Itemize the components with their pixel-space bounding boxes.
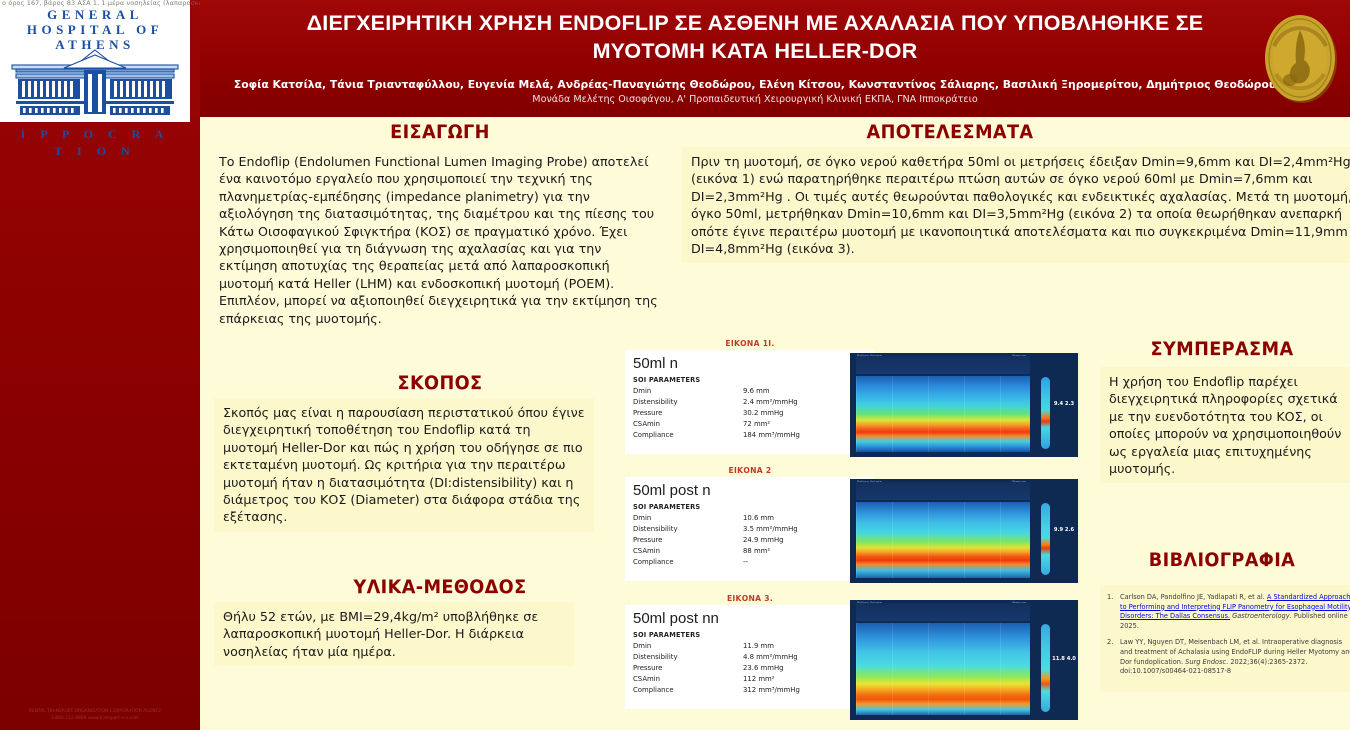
reference-number: 2. (1107, 638, 1113, 648)
flip-panometry-heatmap-2: Balloon Volume Pressure 9.9 2.6 (850, 479, 1078, 583)
reference-journal: Surg Endosc (1185, 658, 1226, 666)
figure-panel-2: 50ml post n SOI PARAMETERS Dmin10.6 mm D… (625, 477, 875, 581)
heatmap-balloon-profile (1041, 624, 1050, 712)
left-sidebar-rail: GENERAL HOSPITAL OF ATHENS (0, 0, 200, 730)
param-value: 23.6 mmHg (743, 663, 858, 674)
param-value: 112 mm² (743, 673, 858, 684)
author-list: Σοφία Κατσίλα, Τάνια Τριανταφύλλου, Ευγε… (230, 78, 1280, 92)
table-row: Pressure23.6 mmHg (633, 663, 858, 674)
figure-volume-title: 50ml post nn (633, 610, 719, 627)
section-body-introduction: Το Endoflip (Endolumen Functional Lumen … (210, 147, 670, 333)
section-heading-bibliography: ΒΙΒΛΙΟΓΡΑΦΙΑ (1106, 549, 1339, 571)
param-key: Pressure (633, 535, 743, 546)
figure-label-2: ΕΙΚΟΝΑ 2 (625, 466, 875, 475)
param-key: Compliance (633, 429, 743, 440)
table-row: Pressure24.9 mmHg (633, 535, 858, 546)
heatmap-balloon-profile (1041, 377, 1050, 449)
figure-params-table: Dmin9.6 mm Distensibility2.4 mm²/mmHg Pr… (633, 386, 858, 440)
sidebar-footer-note: RENTAL TRANSPORT ORGANIZATION CORPORATIO… (0, 708, 190, 722)
heatmap-gridlines (856, 502, 1030, 578)
section-body-purpose: Σκοπός μας είναι η παρουσίαση περιστατικ… (214, 398, 594, 532)
figure-volume-title: 50ml post n (633, 482, 711, 499)
param-value: 2.4 mm²/mmHg (743, 397, 858, 408)
table-row: CSAmin112 mm² (633, 673, 858, 684)
hospital-name-line1: GENERAL (0, 7, 190, 22)
heatmap-readout-b: 4.0 (1067, 656, 1076, 662)
list-item: 1. Carlson DA, Pandolfino JE, Yadlapati … (1106, 593, 1350, 631)
section-heading-conclusion: ΣΥΜΠΕΡΑΣΜΑ (1106, 338, 1339, 360)
section-body-materials-methods: Θήλυ 52 ετών, με BMI=29,4kg/m² υποβλήθηκ… (214, 602, 574, 666)
figure-label-1: ΕΙΚΟΝΑ 1Ι. (625, 339, 875, 348)
param-key: Distensibility (633, 652, 743, 663)
param-value: 88 mm² (743, 545, 858, 556)
param-value: 9.6 mm (743, 386, 858, 397)
param-value: -- (743, 556, 858, 567)
heatmap-gridlines (856, 376, 1030, 452)
param-key: Pressure (633, 663, 743, 674)
param-key: CSAmin (633, 418, 743, 429)
param-value: 24.9 mmHg (743, 535, 858, 546)
table-row: Compliance-- (633, 556, 858, 567)
figure-panel-1: 50ml n SOI PARAMETERS Dmin9.6 mm Distens… (625, 350, 875, 454)
figure-params-header: SOI PARAMETERS (633, 503, 700, 511)
figure-params-header: SOI PARAMETERS (633, 631, 700, 639)
flip-panometry-heatmap-3: Balloon Volume Pressure 11.8 4.0 (850, 600, 1078, 720)
poster-body: ΕΙΣΑΓΩΓΗ Το Endoflip (Endolumen Function… (200, 117, 1350, 730)
heatmap-diameter-plot (856, 623, 1030, 715)
section-body-bibliography: 1. Carlson DA, Pandolfino JE, Yadlapati … (1100, 585, 1350, 692)
ippocration-line1: I P P O C R A (0, 126, 190, 143)
hospital-building-icon (6, 48, 184, 118)
heatmap-readout-b: 2.6 (1065, 527, 1074, 533)
table-row: Compliance312 mm³/mmHg (633, 684, 858, 695)
param-value: 4.8 mm²/mmHg (743, 652, 858, 663)
param-value: 184 mm³/mmHg (743, 429, 858, 440)
table-row: CSAmin72 mm² (633, 418, 858, 429)
figure-params-table: Dmin10.6 mm Distensibility3.5 mm²/mmHg P… (633, 513, 858, 567)
heatmap-readout-a: 9.4 (1054, 401, 1063, 407)
param-key: Distensibility (633, 524, 743, 535)
param-key: Compliance (633, 684, 743, 695)
param-value: 11.9 mm (743, 641, 858, 652)
heatmap-pressure-trace (856, 356, 1030, 374)
hospital-logo-block: GENERAL HOSPITAL OF ATHENS (0, 0, 190, 122)
table-row: Pressure30.2 mmHg (633, 408, 858, 419)
param-key: Dmin (633, 641, 743, 652)
figure-panel-3: 50ml post nn SOI PARAMETERS Dmin11.9 mm … (625, 605, 875, 709)
ippocration-line2: T I O N (0, 143, 190, 160)
heatmap-balloon-profile (1041, 503, 1050, 575)
hospital-name-line2: HOSPITAL OF (0, 22, 190, 37)
param-key: Distensibility (633, 397, 743, 408)
table-row: Compliance184 mm³/mmHg (633, 429, 858, 440)
heatmap-readout: 11.8 4.0 (1052, 656, 1076, 662)
affiliation-line: Μονάδα Μελέτης Οισοφάγου, Α' Προπαιδευτι… (230, 93, 1280, 106)
table-row: Distensibility2.4 mm²/mmHg (633, 397, 858, 408)
heatmap-readout-b: 2.3 (1065, 401, 1074, 407)
ippocration-wordmark: I P P O C R A T I O N (0, 126, 190, 160)
reference-pretext: Carlson DA, Pandolfino JE, Yadlapati R, … (1120, 593, 1267, 601)
heatmap-readout-a: 11.8 (1052, 656, 1065, 662)
param-key: CSAmin (633, 545, 743, 556)
heatmap-pressure-trace (856, 482, 1030, 500)
param-value: 10.6 mm (743, 513, 858, 524)
hospital-name: GENERAL HOSPITAL OF ATHENS (0, 7, 190, 52)
figure-volume-title: 50ml n (633, 355, 678, 372)
figure-params-header: SOI PARAMETERS (633, 376, 700, 384)
param-value: 312 mm³/mmHg (743, 684, 858, 695)
sidebar-footer-line2: 1-800-212-8888 www.transport-a-x.com (0, 715, 190, 722)
reference-number: 1. (1107, 593, 1113, 603)
heatmap-pressure-trace (856, 603, 1030, 621)
section-body-conclusion: Η χρήση του Endoflip παρέχει διεγχειρητι… (1100, 367, 1350, 483)
param-key: Dmin (633, 386, 743, 397)
section-heading-introduction: ΕΙΣΑΓΩΓΗ (226, 121, 654, 143)
param-key: Dmin (633, 513, 743, 524)
table-row: Dmin9.6 mm (633, 386, 858, 397)
figure-label-3: ΕΙΚΟΝΑ 3. (625, 594, 875, 603)
page-title: ΔΙΕΓΧΕΙΡΗΤΙΚΗ ΧΡΗΣΗ ENDOFLIP ΣΕ ΑΣΘΕΝΗ Μ… (255, 9, 1255, 65)
poster-header: ΔΙΕΓΧΕΙΡΗΤΙΚΗ ΧΡΗΣΗ ENDOFLIP ΣΕ ΑΣΘΕΝΗ Μ… (200, 0, 1350, 117)
table-row: CSAmin88 mm² (633, 545, 858, 556)
heatmap-gridlines (856, 623, 1030, 715)
section-heading-results: ΑΠΟΤΕΛΕΣΜΑΤΑ (690, 121, 1211, 143)
table-row: Dmin11.9 mm (633, 641, 858, 652)
heatmap-readout: 9.9 2.6 (1052, 527, 1076, 533)
table-row: Distensibility3.5 mm²/mmHg (633, 524, 858, 535)
list-item: 2. Law YY, Nguyen DT, Meisenbach LM, et … (1106, 638, 1350, 676)
figure-params-table: Dmin11.9 mm Distensibility4.8 mm²/mmHg P… (633, 641, 858, 695)
param-key: CSAmin (633, 673, 743, 684)
heatmap-diameter-plot (856, 502, 1030, 578)
param-key: Compliance (633, 556, 743, 567)
heatmap-readout-a: 9.9 (1054, 527, 1063, 533)
reference-journal: Gastroenterology (1230, 612, 1290, 620)
section-body-results: Πριν τη μυοτομή, σε όγκο νερού καθετήρα … (682, 147, 1350, 263)
param-value: 3.5 mm²/mmHg (743, 524, 858, 535)
sidebar-footer-line1: RENTAL TRANSPORT ORGANIZATION CORPORATIO… (0, 708, 190, 715)
institution-seal-icon (1260, 6, 1342, 110)
param-value: 72 mm² (743, 418, 858, 429)
heatmap-readout: 9.4 2.3 (1052, 401, 1076, 407)
param-value: 30.2 mmHg (743, 408, 858, 419)
param-key: Pressure (633, 408, 743, 419)
table-row: Distensibility4.8 mm²/mmHg (633, 652, 858, 663)
table-row: Dmin10.6 mm (633, 513, 858, 524)
heatmap-diameter-plot (856, 376, 1030, 452)
section-heading-purpose: ΣΚΟΠΟΣ (226, 372, 654, 394)
poster-canvas: GENERAL HOSPITAL OF ATHENS (0, 0, 1350, 730)
flip-panometry-heatmap-1: Balloon Volume Pressure 9.4 2.3 (850, 353, 1078, 457)
section-heading-materials-methods: ΥΛΙΚΑ-ΜΕΘΟΔΟΣ (226, 576, 654, 598)
reference-list: 1. Carlson DA, Pandolfino JE, Yadlapati … (1106, 593, 1350, 677)
